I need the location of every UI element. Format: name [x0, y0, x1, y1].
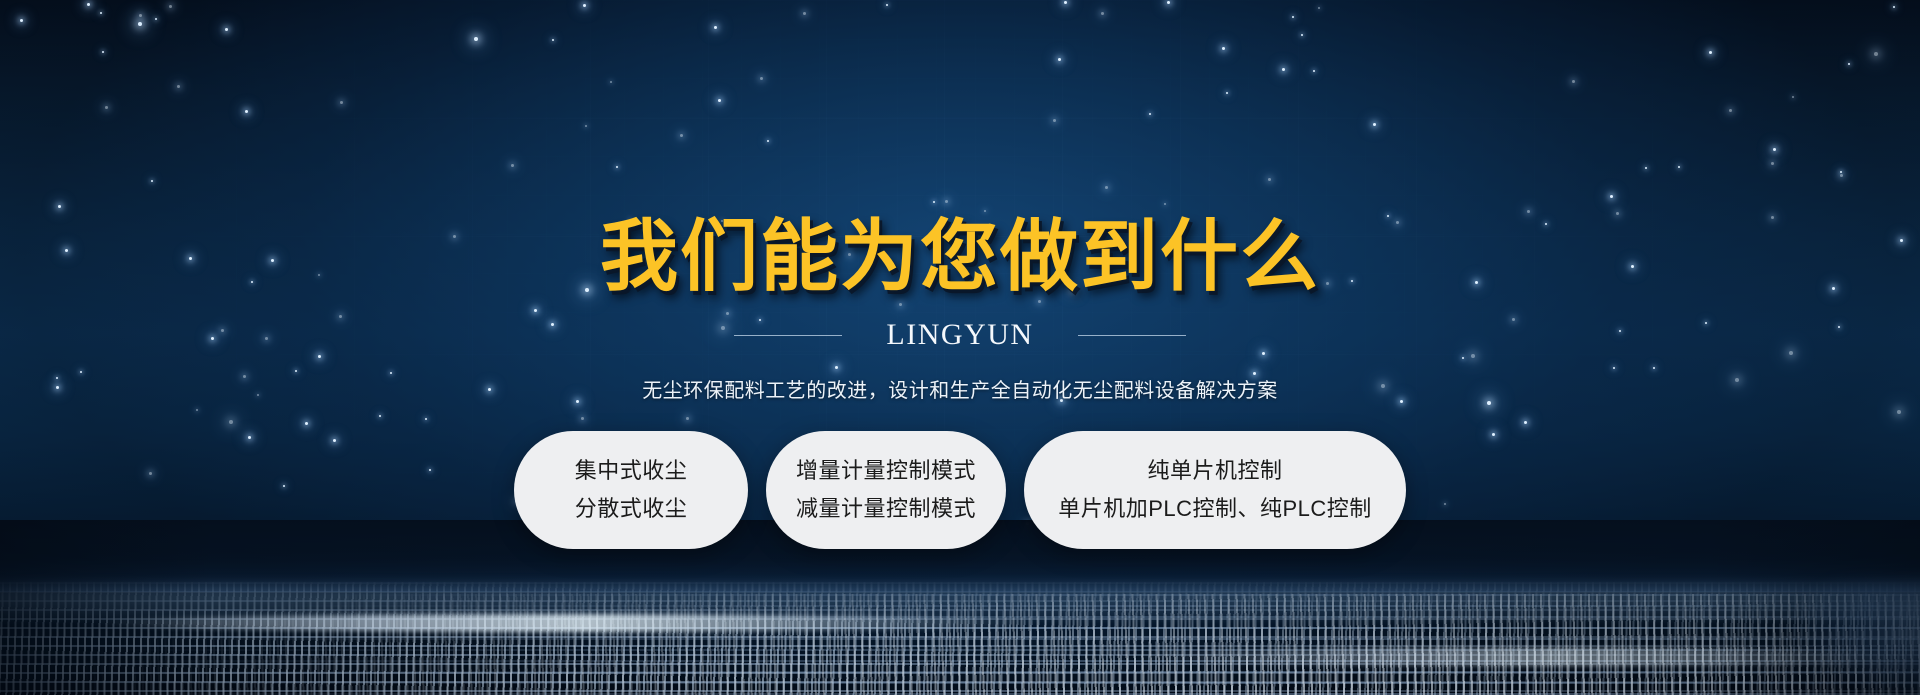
feature-card-line: 集中式收尘 [575, 460, 688, 482]
page-title: 我们能为您做到什么 [600, 218, 1320, 296]
divider-line-left [734, 335, 842, 336]
description-text: 无尘环保配料工艺的改进，设计和生产全自动化无尘配料设备解决方案 [642, 374, 1278, 403]
feature-card-line: 单片机加PLC控制、纯PLC控制 [1058, 498, 1372, 520]
subtitle-row: LINGYUN [734, 318, 1185, 352]
brand-name: LINGYUN [886, 318, 1033, 352]
feature-card[interactable]: 增量计量控制模式 减量计量控制模式 [766, 431, 1006, 549]
feature-card-line: 减量计量控制模式 [796, 498, 976, 520]
divider-line-right [1078, 335, 1186, 336]
banner-content: 我们能为您做到什么 LINGYUN 无尘环保配料工艺的改进，设计和生产全自动化无… [0, 0, 1920, 695]
feature-card-line: 增量计量控制模式 [796, 460, 976, 482]
feature-card-line: 分散式收尘 [575, 498, 688, 520]
hero-banner: 我们能为您做到什么 LINGYUN 无尘环保配料工艺的改进，设计和生产全自动化无… [0, 0, 1920, 695]
feature-card-line: 纯单片机控制 [1147, 460, 1282, 482]
feature-card[interactable]: 纯单片机控制 单片机加PLC控制、纯PLC控制 [1024, 431, 1406, 549]
feature-card[interactable]: 集中式收尘 分散式收尘 [514, 431, 748, 549]
feature-card-list: 集中式收尘 分散式收尘 增量计量控制模式 减量计量控制模式 纯单片机控制 单片机… [514, 431, 1406, 549]
